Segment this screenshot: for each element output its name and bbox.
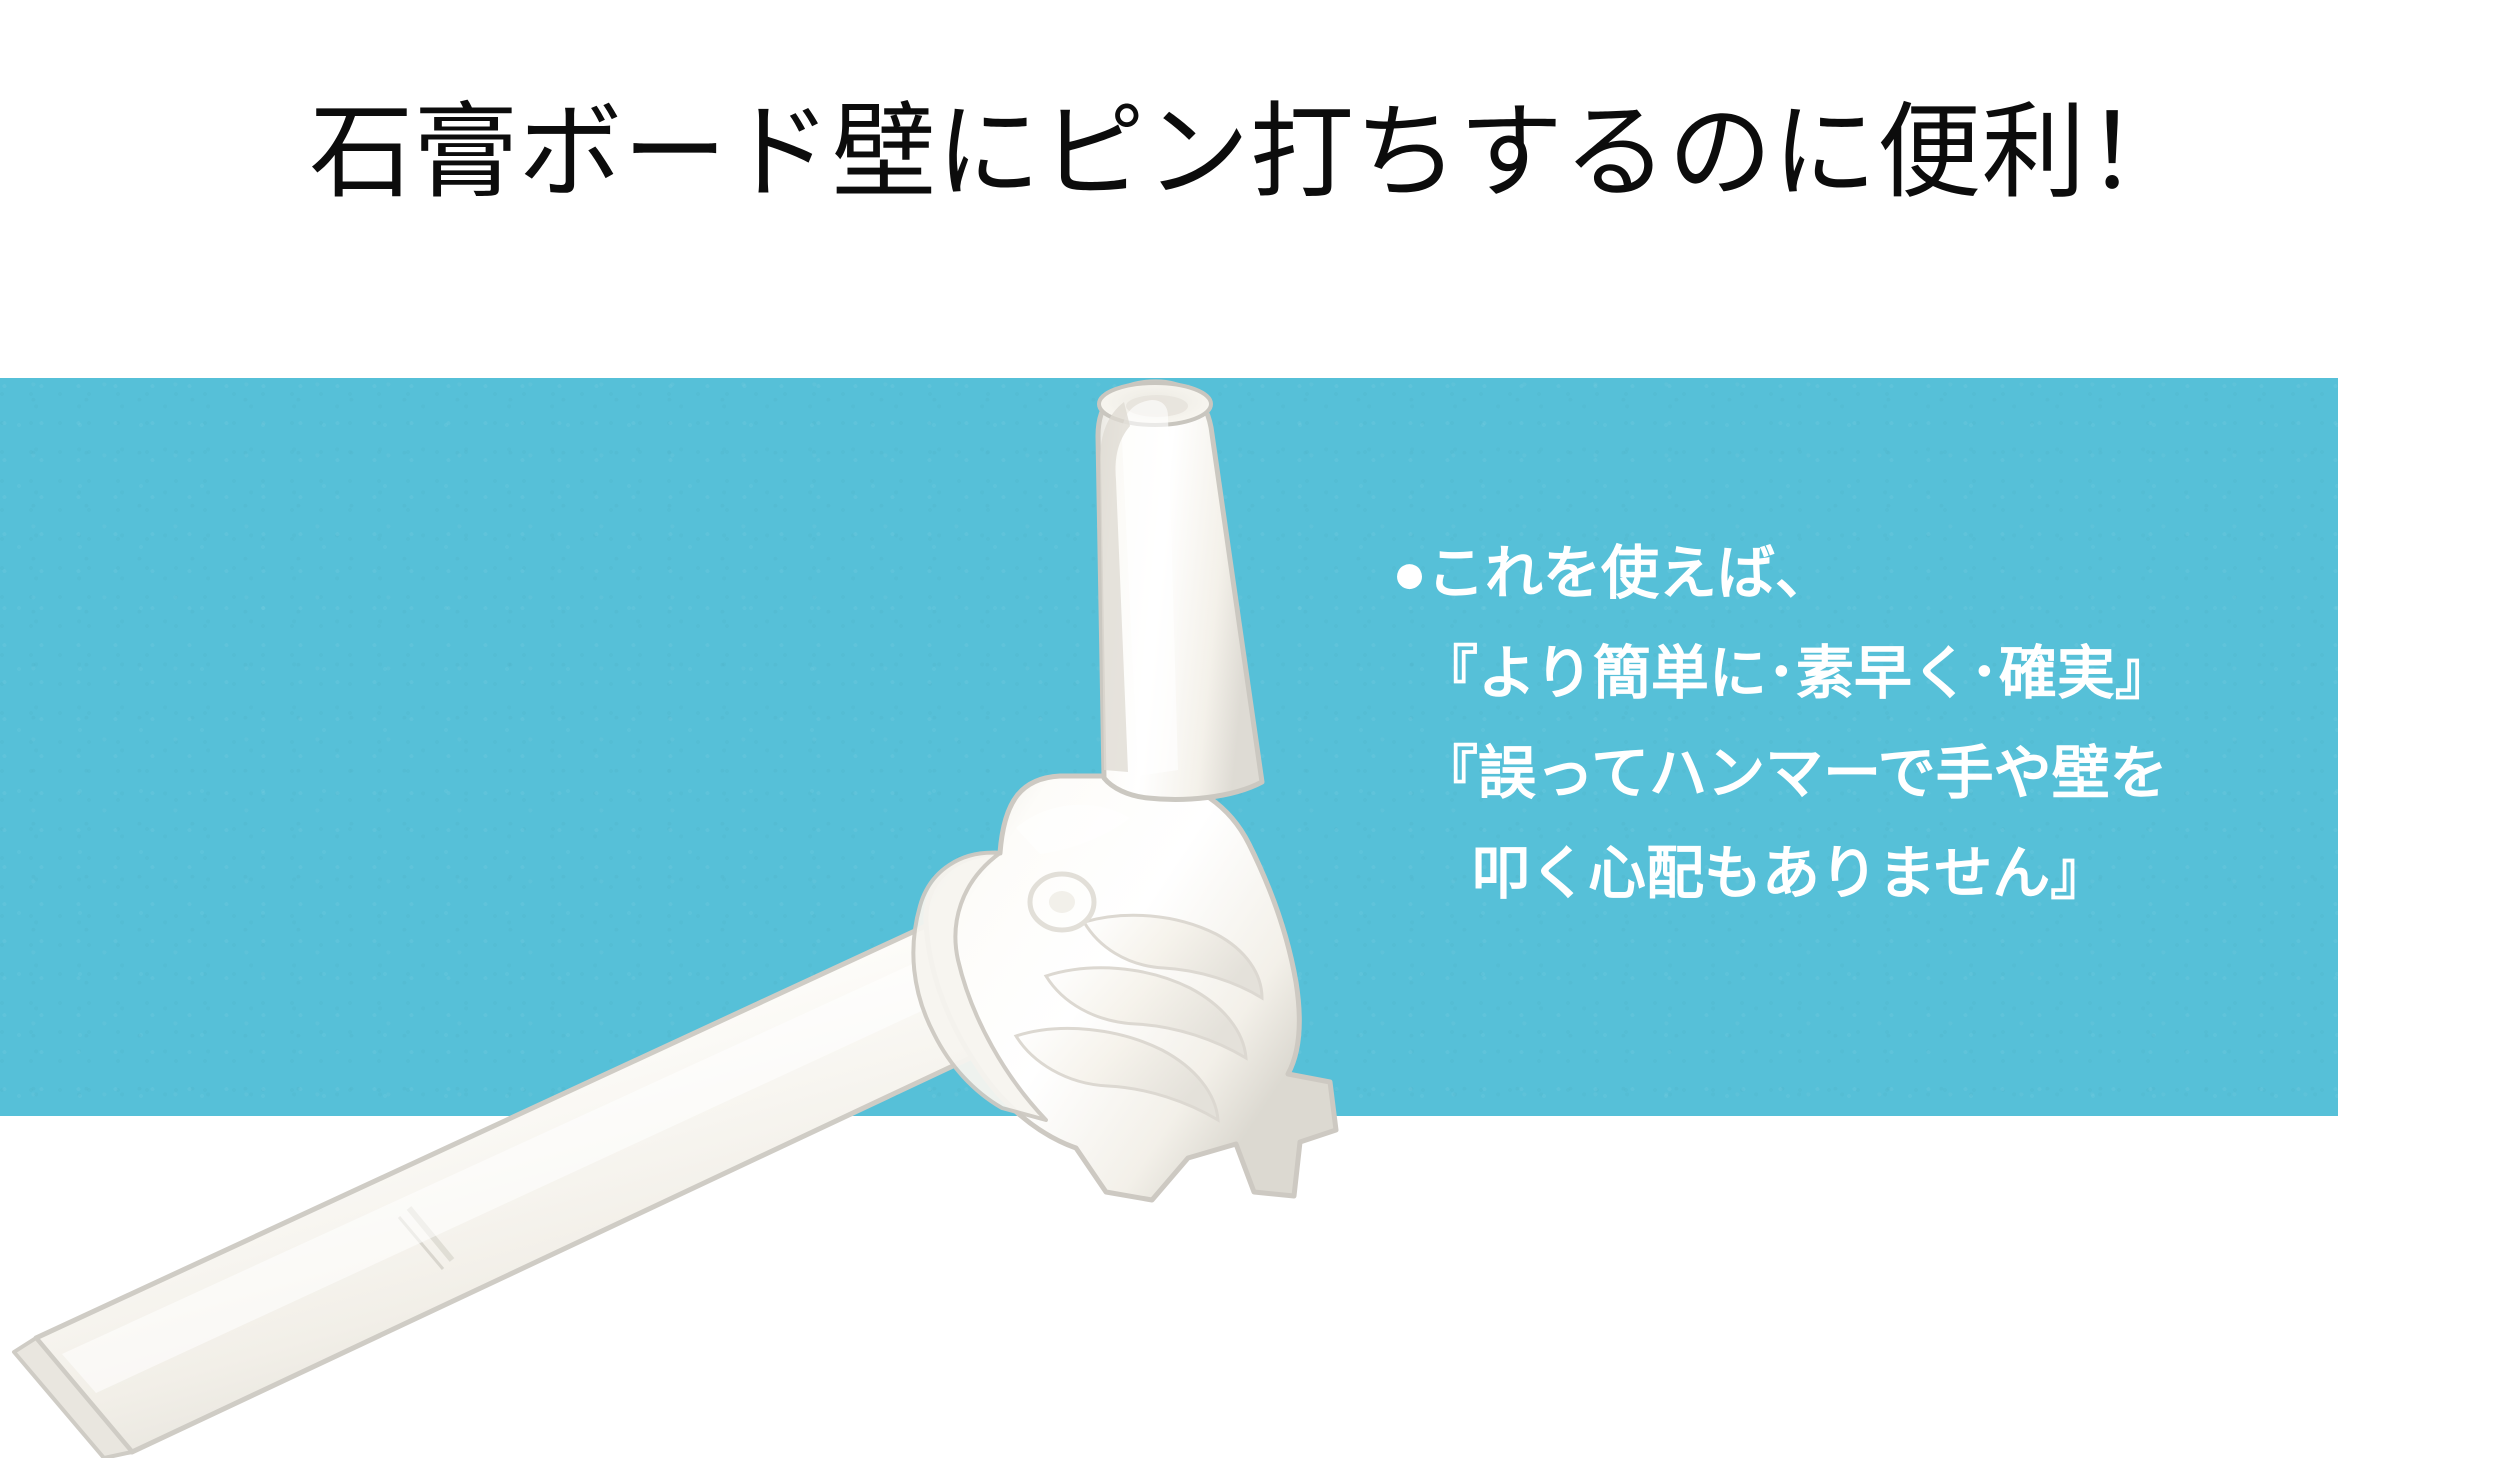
product-shaft-step [409,1208,452,1260]
benefit-copy-block: ●これを使えば、 『より簡単に･素早く･確実』 『誤ってハンマーで手や壁を 叩く… [1392,524,2312,924]
poster-canvas: 石膏ボード壁にピン打ちするのに便利！ ●これを使えば、 『より簡単に･素早く･確… [0,0,2500,1458]
copy-line-3: 『誤ってハンマーで手や壁を [1420,724,2312,824]
copy-line-1: ●これを使えば、 [1392,524,2312,624]
page-title: 石膏ボード壁にピン打ちするのに便利！ [0,96,2500,210]
copy-line-2: 『より簡単に･素早く･確実』 [1420,624,2312,724]
product-shaft-step-shadow [399,1217,443,1269]
product-shaft-end [14,1338,132,1458]
copy-line-4: 叩く心配もありません』 [1472,824,2312,924]
